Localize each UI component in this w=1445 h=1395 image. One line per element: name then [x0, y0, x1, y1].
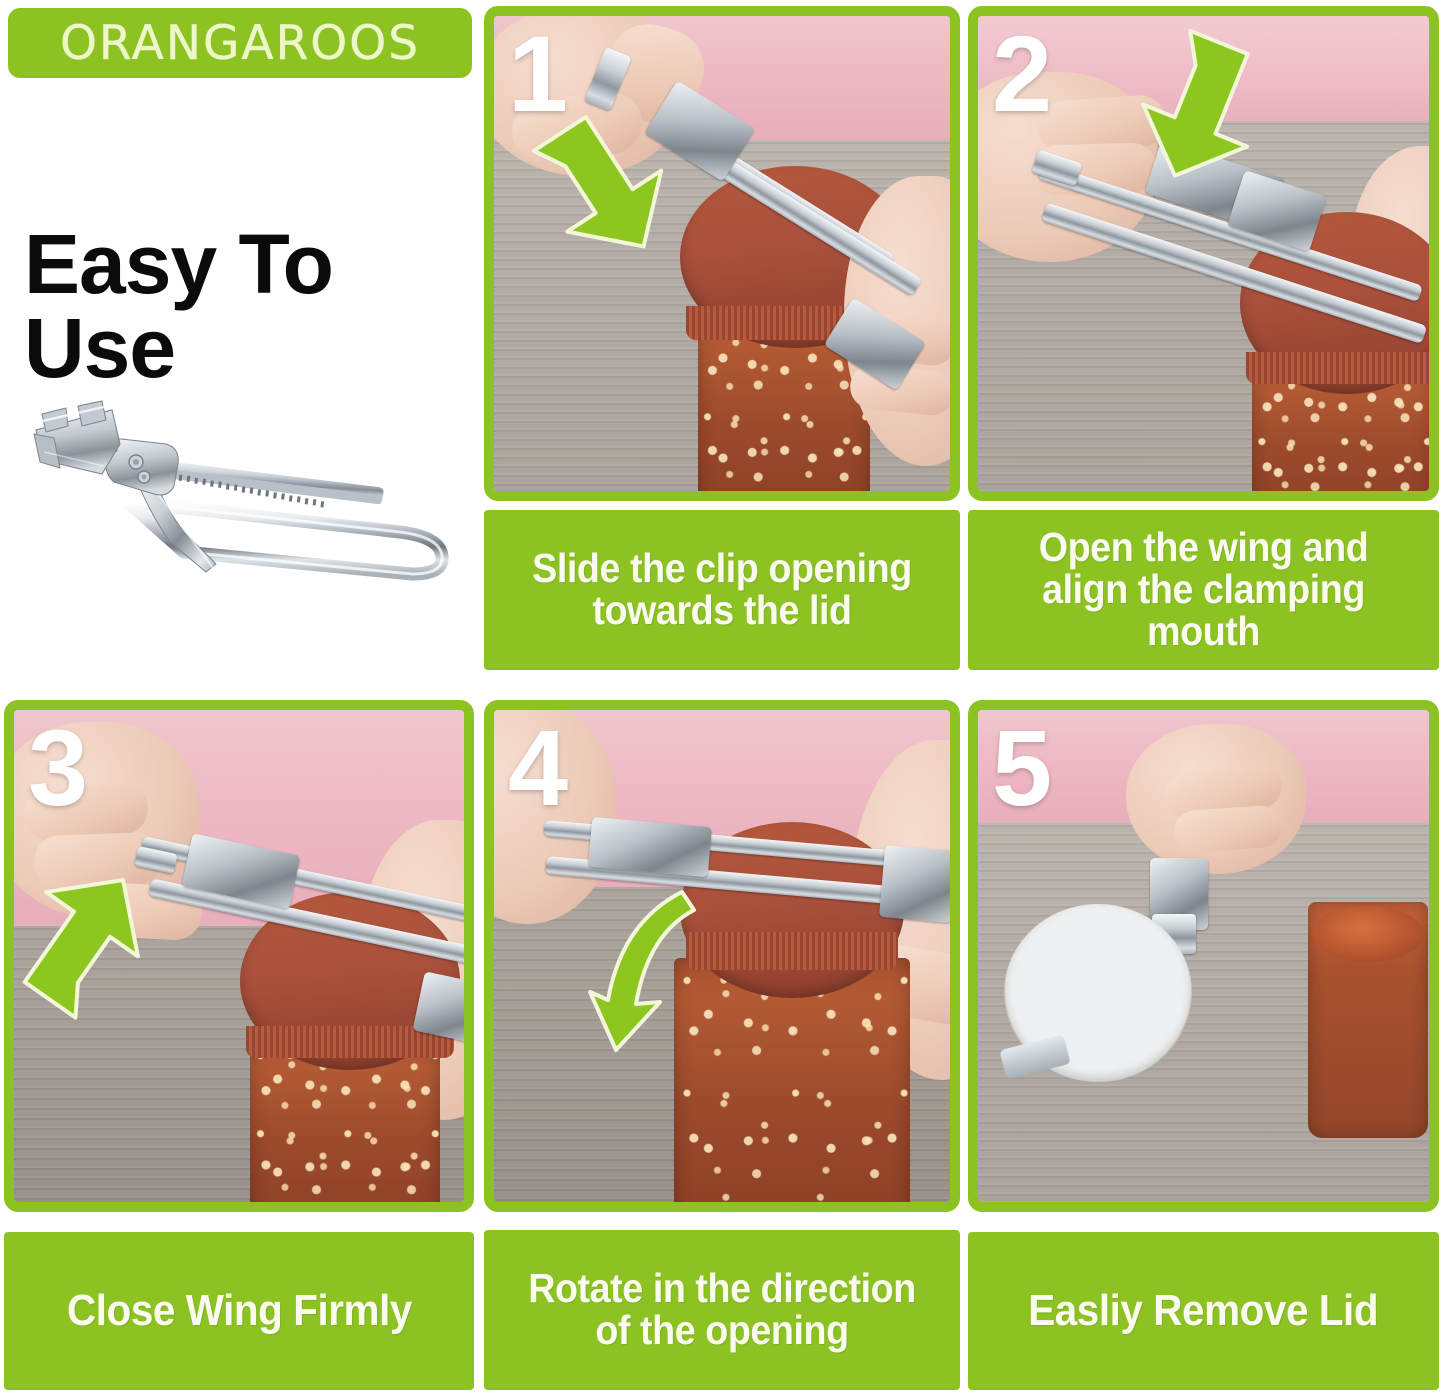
up-right-arrow — [18, 860, 198, 1020]
down-left-arrow — [1154, 34, 1344, 194]
step-2-caption-text: Open the wing and align the clamping mou… — [996, 527, 1411, 652]
step-number: 3 — [28, 714, 88, 822]
step-4-caption: Rotate in the direction of the opening — [484, 1230, 960, 1390]
step-2-photo: 2 — [968, 6, 1439, 501]
step-4-photo: 4 — [484, 700, 960, 1212]
open-jar — [1308, 902, 1428, 1138]
down-right-arrow — [554, 104, 774, 264]
step-number: 4 — [508, 714, 568, 822]
opener-clamp — [879, 845, 950, 923]
step-4-caption-text: Rotate in the direction of the opening — [512, 1268, 932, 1352]
lid-ridges — [1246, 352, 1429, 384]
step-2-caption: Open the wing and align the clamping mou… — [968, 510, 1439, 670]
step-1-caption-text: Slide the clip opening towards the lid — [512, 548, 932, 632]
step-3-caption-text: Close Wing Firmly — [67, 1289, 412, 1334]
infographic-sheet: ORANGAROOS Easy To Use — [0, 0, 1445, 1395]
step-number: 1 — [508, 20, 568, 128]
brand-name: ORANGAROOS — [60, 20, 420, 67]
step-3-photo: 3 — [4, 700, 474, 1212]
brand-logo-bar: ORANGAROOS — [8, 8, 472, 78]
step-number: 5 — [992, 714, 1052, 822]
step-number: 2 — [992, 20, 1052, 128]
step-3-caption: Close Wing Firmly — [4, 1232, 474, 1390]
step-5-caption: Easliy Remove Lid — [968, 1232, 1439, 1390]
jar-sauce-surface — [1312, 906, 1424, 962]
page-title: Easy To Use — [24, 222, 464, 390]
opener-hinge — [588, 817, 712, 877]
product-photo — [8, 382, 470, 594]
step-1-photo: 1 — [484, 6, 960, 501]
finger-2 — [1173, 804, 1284, 853]
step-1-caption: Slide the clip opening towards the lid — [484, 510, 960, 670]
step-5-photo: 5 — [968, 700, 1439, 1212]
step-5-caption-text: Easliy Remove Lid — [1029, 1289, 1379, 1334]
curved-down-arrow — [564, 880, 724, 1060]
